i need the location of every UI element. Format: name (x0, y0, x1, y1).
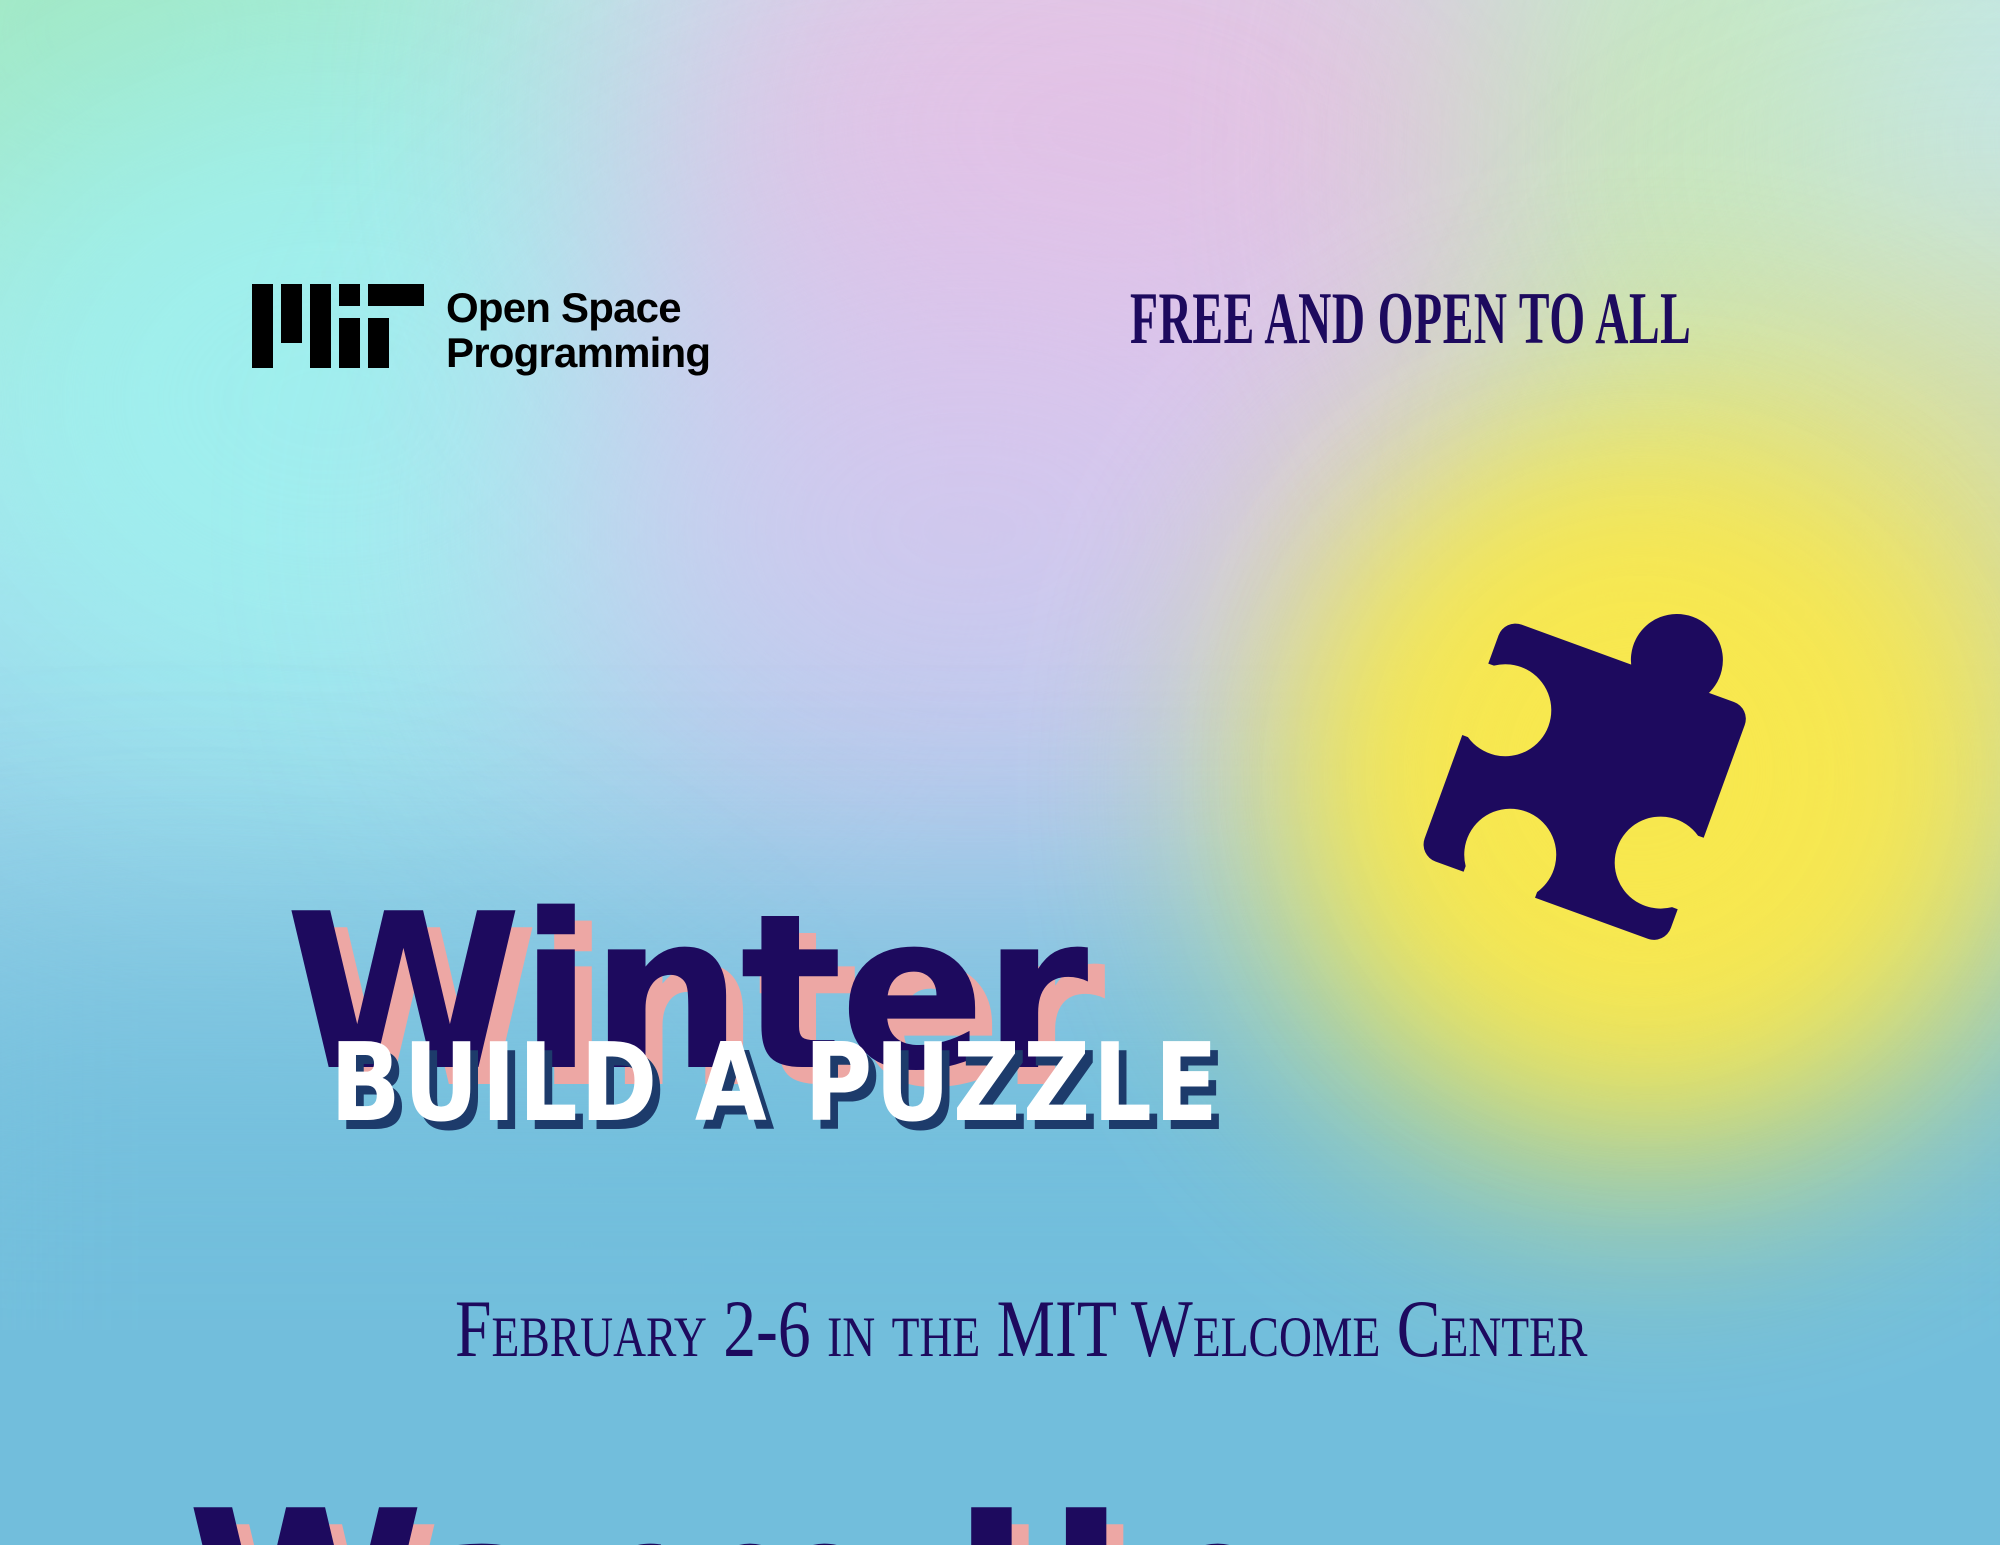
mit-open-space-programming-logo: Open Space Programming (252, 284, 710, 375)
title-line-2: Warm Up (187, 1491, 1274, 1545)
puzzle-piece-icon (1380, 580, 1780, 980)
event-dateline: February 2-6 in the MIT Welcome Center (455, 1288, 1587, 1370)
poster-canvas: Open Space Programming FREE AND OPEN TO … (0, 0, 2000, 1545)
free-and-open-banner: FREE AND OPEN TO ALL (1130, 282, 1691, 356)
logo-wordmark: Open Space Programming (446, 286, 710, 375)
mit-logo-icon (252, 284, 424, 368)
page-subtitle: BUILD A PUZZLE (330, 1030, 1221, 1138)
